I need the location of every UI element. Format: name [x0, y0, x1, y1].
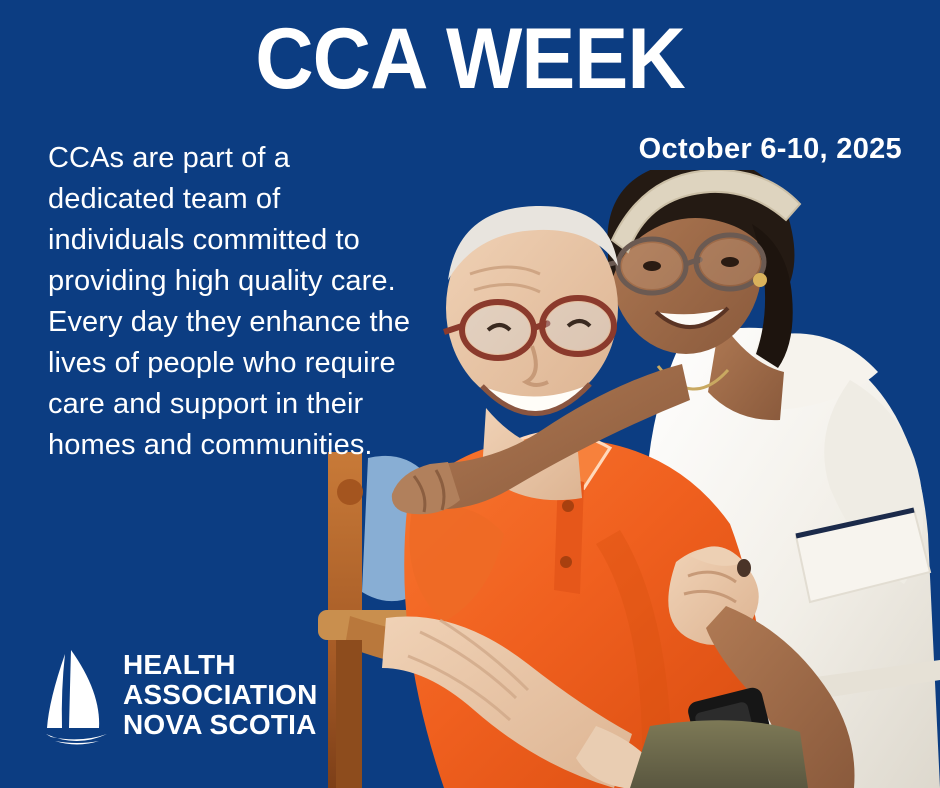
logo-line-2: ASSOCIATION	[123, 680, 318, 710]
cca-week-poster: CCA WEEK October 6-10, 2025	[0, 0, 940, 788]
event-date: October 6-10, 2025	[639, 133, 902, 166]
logo-line-1: HEALTH	[123, 650, 318, 680]
page-title: CCA WEEK	[28, 14, 912, 104]
body-text: CCAs are part of a dedicated team of ind…	[48, 138, 416, 466]
organization-logo: HEALTH ASSOCIATION NOVA SCOTIA	[45, 644, 318, 746]
logo-wordmark: HEALTH ASSOCIATION NOVA SCOTIA	[123, 650, 318, 740]
logo-line-3: NOVA SCOTIA	[123, 710, 318, 740]
sailboat-icon	[45, 644, 109, 746]
